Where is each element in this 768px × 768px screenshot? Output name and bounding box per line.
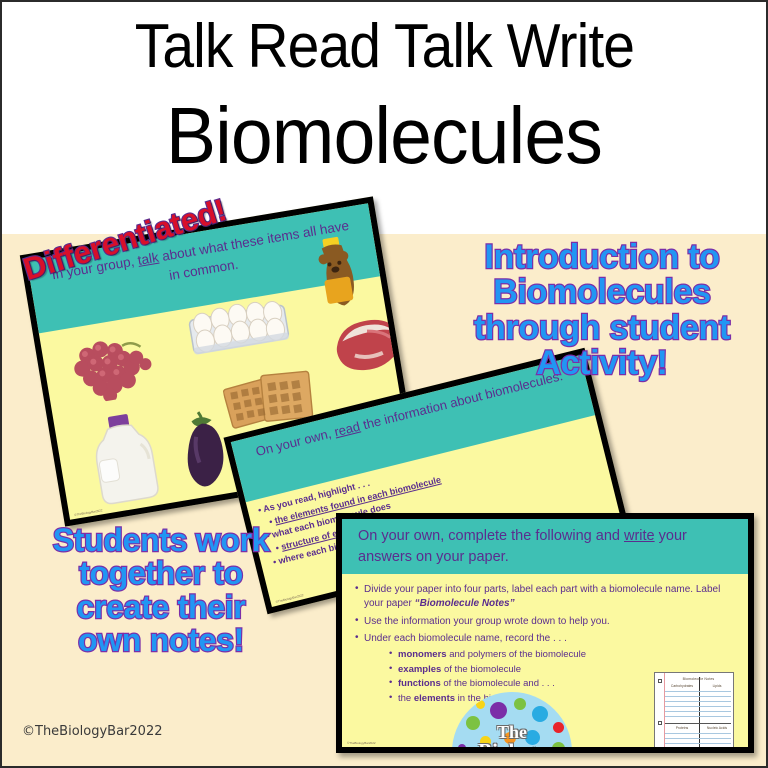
notebook-thumbnail: Biomolecule Notes Carbohydrates Lipids P… <box>654 672 734 753</box>
notebook-holes <box>657 673 663 753</box>
write-header-keyword: write <box>624 528 655 544</box>
list-item: monomers and polymers of the biomolecule <box>388 648 736 661</box>
write-slide-header: On your own, complete the following and … <box>342 519 748 574</box>
list-item: Divide your paper into four parts, label… <box>354 583 736 611</box>
intro-promo-text: Introduction to Biomolecules through stu… <box>442 240 762 381</box>
grapes-image <box>63 330 164 406</box>
notebook-quadrant-4: Nucleic Acids <box>701 726 733 731</box>
read-header-pre: On your own, <box>254 425 336 459</box>
poster-canvas: Talk Read Talk Write Biomolecules In you… <box>0 0 768 768</box>
title-band: Talk Read Talk Write Biomolecules <box>2 2 766 234</box>
notebook-margin <box>664 673 665 753</box>
intro-line-3: Activity! <box>442 346 762 381</box>
milk-jug-image <box>82 408 168 511</box>
write-slide[interactable]: On your own, complete the following and … <box>336 513 754 753</box>
list-item: Use the information your group wrote dow… <box>354 615 736 629</box>
write-slide-body: Divide your paper into four parts, label… <box>342 574 748 705</box>
students-line-2: create their <box>6 591 316 624</box>
students-line-3: own notes! <box>6 624 316 657</box>
intro-line-1: Biomolecules <box>442 275 762 310</box>
copyright-notice: ©TheBiologyBar2022 <box>22 724 163 739</box>
notebook-title: Biomolecule Notes <box>666 677 731 682</box>
logo-line2: Biology <box>478 741 546 753</box>
intro-line-2: through student <box>442 311 762 346</box>
students-promo-text: Students work together to create their o… <box>6 524 316 657</box>
write-header-pre: On your own, complete the following and <box>358 528 624 544</box>
students-line-1: together to <box>6 557 316 590</box>
students-line-0: Students work <box>6 524 316 557</box>
notebook-divider <box>699 677 700 753</box>
read-header-keyword: read <box>333 419 362 440</box>
notebook-separator <box>665 723 731 724</box>
page-title-line1: Talk Read Talk Write <box>134 16 633 78</box>
logo-text: The Biology Bar <box>452 692 572 753</box>
notebook-quadrant-3: Proteins <box>666 726 698 731</box>
biology-bar-logo: The Biology Bar <box>452 692 572 753</box>
notebook-quadrant-2: Lipids <box>701 684 733 689</box>
write-slide-footer: ©TheBiologyBar2022 <box>347 741 376 745</box>
notebook-quadrant-1: Carbohydrates <box>666 684 698 689</box>
page-title-line2: Biomolecules <box>166 94 602 178</box>
intro-line-0: Introduction to <box>442 240 762 275</box>
